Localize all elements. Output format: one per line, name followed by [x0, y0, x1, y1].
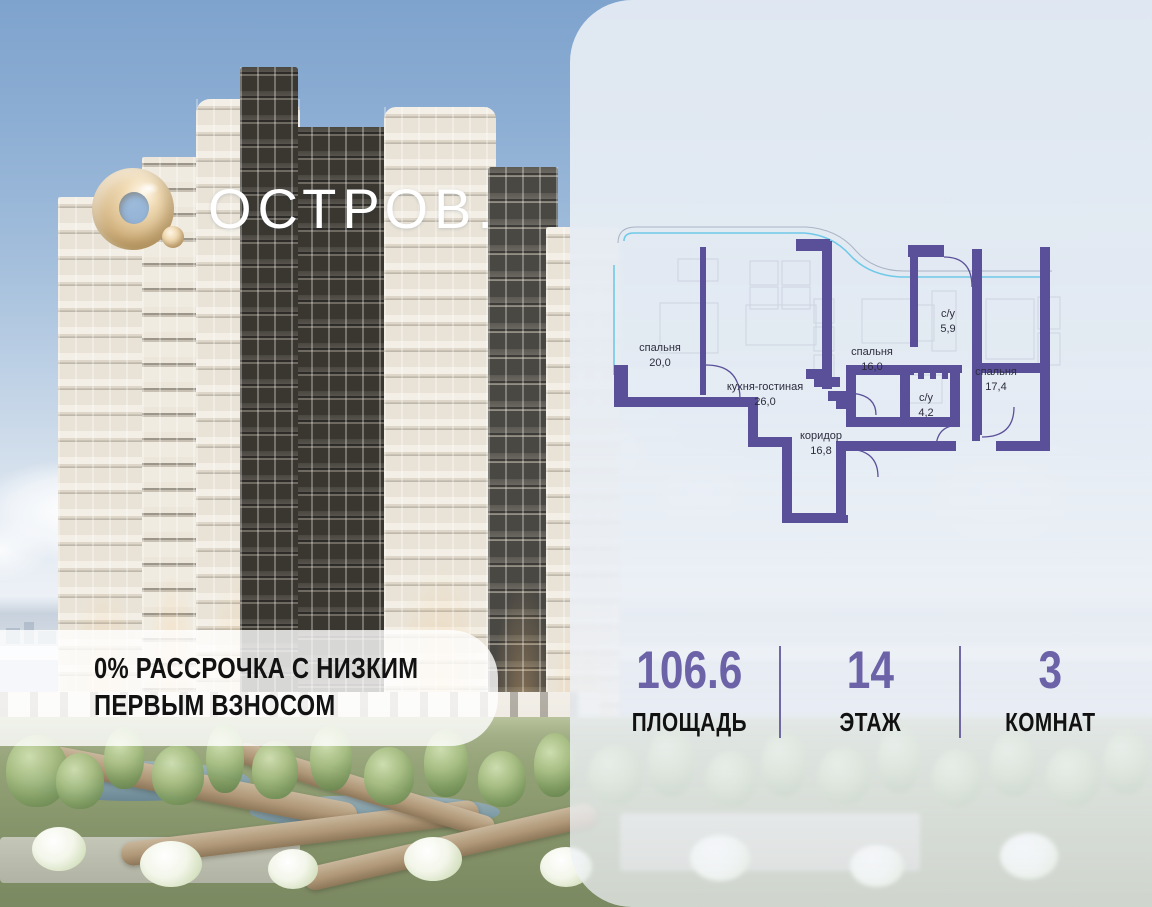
room-area: 4,2 [918, 407, 933, 419]
stat-label: КОМНАТ [979, 707, 1122, 738]
room-area: 5,9 [940, 323, 955, 335]
room-area: 16,8 [810, 445, 831, 457]
room-area: 17,4 [985, 381, 1006, 393]
room-label: спальня [851, 346, 893, 358]
gold-dot-icon [162, 226, 184, 248]
room-label: спальня [639, 342, 681, 354]
stat-label: ПЛОЩАДЬ [618, 707, 761, 738]
stat-value: 3 [979, 646, 1122, 697]
stat-rooms: 3 КОМНАТ [961, 646, 1140, 739]
stat-label: ЭТАЖ [799, 707, 942, 738]
stat-divider [779, 646, 781, 738]
apartment-floorplan: спальня 20,0 кухня-гостиная 26,0 спальня… [600, 225, 1120, 555]
stat-area: 106.6 ПЛОЩАДЬ [600, 646, 779, 739]
stat-value: 14 [799, 646, 942, 697]
room-label: с/у [941, 308, 956, 320]
promo-text: 0% РАССРОЧКА С НИЗКИМ ПЕРВЫМ ВЗНОСОМ [94, 651, 418, 725]
room-area: 16,0 [861, 361, 882, 373]
stat-floor: 14 ЭТАЖ [781, 646, 960, 739]
room-area: 26,0 [754, 396, 775, 408]
room-label: кухня-гостиная [727, 381, 803, 393]
brand-name: ОСТРОВ. [208, 181, 499, 237]
gold-torus-logo-icon [92, 168, 174, 250]
room-label: с/у [919, 392, 934, 404]
stat-value: 106.6 [618, 646, 761, 697]
promo-banner[interactable]: 0% РАССРОЧКА С НИЗКИМ ПЕРВЫМ ВЗНОСОМ [0, 630, 498, 746]
room-area: 20,0 [649, 357, 670, 369]
advertisement-creative: ОСТРОВ. [0, 0, 1152, 907]
room-label: коридор [800, 430, 842, 442]
apartment-stats: 106.6 ПЛОЩАДЬ 14 ЭТАЖ 3 КОМНАТ [600, 636, 1140, 748]
room-label: спальня [975, 366, 1017, 378]
stat-divider [959, 646, 961, 738]
brand-logo[interactable]: ОСТРОВ. [92, 168, 499, 250]
